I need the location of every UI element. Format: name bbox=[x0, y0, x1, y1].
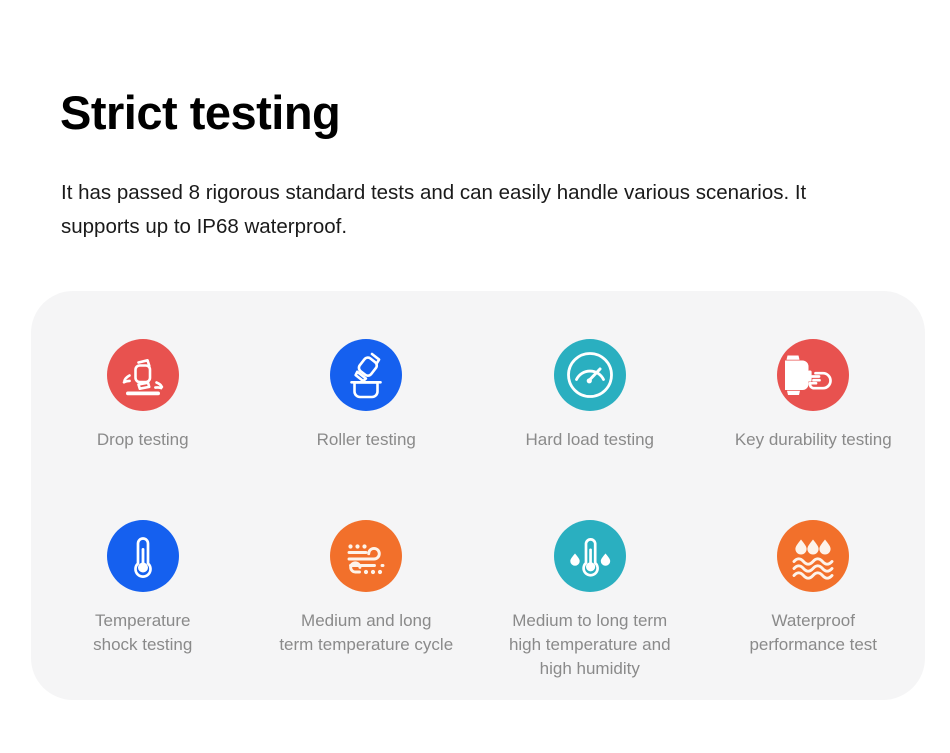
testing-panel: Drop testing bbox=[31, 291, 925, 700]
page-description: It has passed 8 rigorous standard tests … bbox=[61, 176, 821, 244]
label-line-1: Waterproof bbox=[772, 611, 855, 630]
test-item-label: Drop testing bbox=[48, 428, 238, 452]
test-item-temperature-shock-testing[interactable]: Temperature shock testing bbox=[31, 520, 255, 701]
test-item-label: Hard load testing bbox=[495, 428, 685, 452]
test-item-label: Waterproof performance test bbox=[718, 609, 908, 657]
test-item-label: Medium to long term high temperature and… bbox=[495, 609, 685, 681]
label-line-1: Medium to long term bbox=[512, 611, 667, 630]
test-item-label: Medium and long term temperature cycle bbox=[271, 609, 461, 657]
label-line-2: high temperature and bbox=[509, 635, 671, 654]
testing-grid: Drop testing bbox=[31, 291, 925, 700]
test-item-medium-to-long-term-high-temperature-humidity[interactable]: Medium to long term high temperature and… bbox=[478, 520, 702, 701]
test-item-hard-load-testing[interactable]: Hard load testing bbox=[478, 339, 702, 520]
label-line-3: high humidity bbox=[540, 659, 640, 678]
watch-drop-impact-icon bbox=[107, 339, 179, 411]
test-item-drop-testing[interactable]: Drop testing bbox=[31, 339, 255, 520]
label-line-1: Temperature bbox=[95, 611, 190, 630]
test-item-roller-testing[interactable]: Roller testing bbox=[255, 339, 479, 520]
label-line-2: performance test bbox=[749, 635, 877, 654]
test-item-key-durability-testing[interactable]: Key durability testing bbox=[702, 339, 926, 520]
thermometer-icon bbox=[107, 520, 179, 592]
strict-testing-page: Strict testing It has passed 8 rigorous … bbox=[0, 0, 950, 753]
label-line-2: shock testing bbox=[93, 635, 192, 654]
watch-tumbler-drum-icon bbox=[330, 339, 402, 411]
gauge-speedometer-icon bbox=[554, 339, 626, 411]
label-line-2: term temperature cycle bbox=[279, 635, 453, 654]
page-title: Strict testing bbox=[60, 87, 340, 139]
label-line-1: Medium and long bbox=[301, 611, 431, 630]
water-droplets-waves-icon bbox=[777, 520, 849, 592]
test-item-medium-and-long-term-temperature-cycle[interactable]: Medium and long term temperature cycle bbox=[255, 520, 479, 701]
test-item-label: Key durability testing bbox=[718, 428, 908, 452]
test-item-waterproof-performance-test[interactable]: Waterproof performance test bbox=[702, 520, 926, 701]
test-item-label: Temperature shock testing bbox=[48, 609, 238, 657]
thermometer-humidity-icon bbox=[554, 520, 626, 592]
test-item-label: Roller testing bbox=[271, 428, 461, 452]
wind-airflow-icon bbox=[330, 520, 402, 592]
watch-button-press-hand-icon bbox=[777, 339, 849, 411]
